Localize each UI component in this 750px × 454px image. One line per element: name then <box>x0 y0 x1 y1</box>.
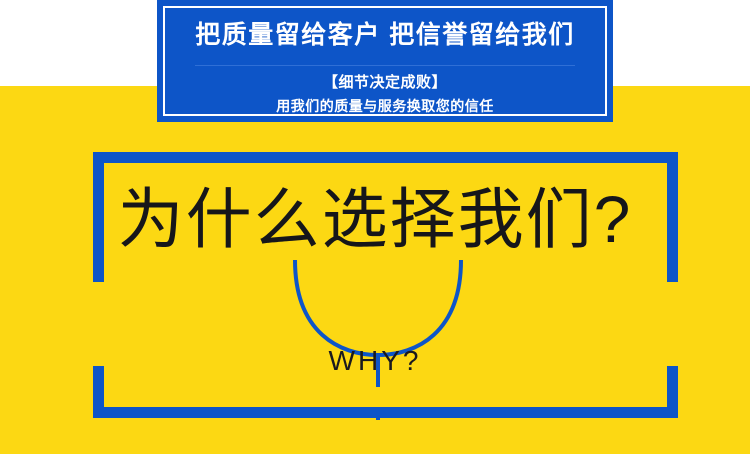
top-banner: 把质量留给客户 把信誉留给我们 【细节决定成败】 用我们的质量与服务换取您的信任 <box>157 0 613 122</box>
page-title: 为什么选择我们? <box>0 186 750 252</box>
banner-divider-rule <box>195 65 575 66</box>
frame-corner-top-left-horizontal <box>93 152 173 163</box>
frame-corner-top-right-horizontal <box>598 152 678 163</box>
banner-subtitle-secondary: 用我们的质量与服务换取您的信任 <box>165 96 605 116</box>
banner-subtitle-primary: 【细节决定成败】 <box>165 71 605 92</box>
why-label: WHY? <box>0 345 750 377</box>
banner-inner-frame: 把质量留给客户 把信誉留给我们 【细节决定成败】 用我们的质量与服务换取您的信任 <box>163 6 607 116</box>
banner-headline: 把质量留给客户 把信誉留给我们 <box>165 22 605 50</box>
poster-canvas: 把质量留给客户 把信誉留给我们 【细节决定成败】 用我们的质量与服务换取您的信任… <box>0 0 750 454</box>
brace-curve-icon <box>280 255 476 420</box>
frame-top-rail <box>93 152 678 163</box>
